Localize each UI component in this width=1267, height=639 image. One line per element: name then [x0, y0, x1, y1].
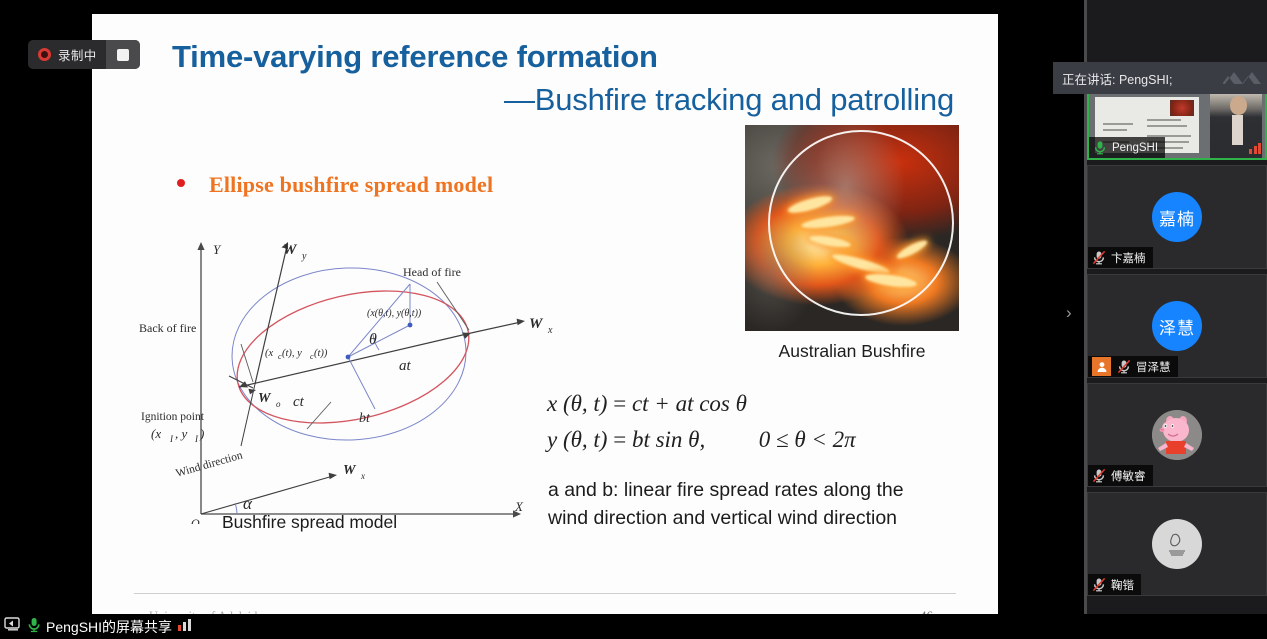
taskbar: PengSHI的屏幕共享 — [0, 614, 1267, 639]
bushfire-spread-diagram: Y X O — [117, 224, 557, 524]
label-ct: ct — [293, 394, 305, 410]
recording-label: 录制中 — [58, 45, 97, 64]
avatar — [1152, 410, 1202, 460]
recording-status: 录制中 — [28, 40, 106, 69]
mic-muted-icon — [1092, 577, 1106, 592]
photo-circle-overlay — [768, 130, 954, 316]
major-axis — [239, 333, 471, 387]
participant-tile-jukai[interactable]: 鞠锴 — [1087, 492, 1267, 596]
svg-text:o: o — [276, 399, 281, 409]
label-ignition-coords: (x — [151, 426, 161, 441]
mic-muted-icon — [1092, 250, 1106, 265]
page-title: Time-varying reference formation —Bushfi… — [172, 36, 962, 122]
presenter-shirt — [1232, 115, 1243, 145]
peppa-pig-avatar-icon — [1152, 410, 1202, 460]
label-bt: bt — [359, 411, 371, 426]
zoom-logo-icon — [1221, 62, 1267, 94]
screen-share-icon[interactable] — [4, 616, 22, 637]
label-theta: θ — [369, 331, 377, 348]
participant-name: 卞嘉楠 — [1111, 250, 1146, 266]
eq2-range: 0 ≤ θ < 2π — [759, 427, 856, 452]
label-ignition-point: Ignition point — [141, 411, 205, 423]
mic-on-icon[interactable] — [27, 616, 41, 638]
bullet-item: Ellipse bushfire spread model — [177, 172, 493, 198]
participant-tile-pengshi[interactable]: PengSHI — [1087, 90, 1267, 160]
eq1-rhs: ct + at cos θ — [632, 391, 747, 416]
sketch-avatar-icon — [1164, 531, 1190, 557]
svg-text:I: I — [194, 434, 199, 444]
eq2-lhs: y (θ, t) — [547, 427, 607, 452]
shared-slide: Time-varying reference formation —Bushfi… — [92, 14, 998, 621]
eq2-rhs: bt sin θ, — [632, 427, 705, 452]
participant-label: 卞嘉楠 — [1088, 247, 1153, 268]
active-speaker-label: 正在讲话: PengSHI; — [1053, 69, 1221, 88]
spread-equations: x (θ, t) = ct + at cos θ y (θ, t) = bt s… — [547, 386, 856, 457]
svg-text:): ) — [199, 426, 204, 441]
axis-label-x: X — [514, 499, 524, 514]
record-dot-icon — [38, 48, 51, 61]
photo-caption: Australian Bushfire — [745, 341, 959, 362]
bullet-dot-icon — [177, 179, 185, 187]
participant-tile-maozehui[interactable]: 泽慧 冒泽慧 — [1087, 274, 1267, 378]
label-wo: W — [258, 391, 272, 406]
svg-text:x: x — [547, 325, 553, 336]
participant-label: 鞠锴 — [1088, 574, 1141, 595]
participant-label: 冒泽慧 — [1088, 356, 1178, 377]
label-wind-direction: Wind direction — [175, 449, 245, 480]
avatar — [1152, 519, 1202, 569]
slide-title-line2: —Bushfire tracking and patrolling — [172, 79, 962, 122]
wy-axis — [255, 246, 287, 384]
label-wy: W — [283, 242, 298, 258]
label-point-coords: (x(θ,t), y(θ,t)) — [367, 308, 422, 319]
ignition-leader — [307, 402, 331, 429]
svg-text:y: y — [301, 251, 307, 262]
participant-name: 鞠锴 — [1111, 577, 1134, 593]
eq1-lhs: x (θ, t) — [547, 391, 607, 416]
bushfire-photo — [745, 125, 959, 331]
zoom-screen-share-window: Time-varying reference formation —Bushfi… — [0, 0, 1267, 639]
bushfire-photo-block: Australian Bushfire — [745, 125, 959, 362]
svg-text:(t)): (t)) — [314, 348, 328, 359]
label-wx-wind: W — [343, 463, 357, 478]
recording-indicator[interactable]: 录制中 — [28, 40, 140, 69]
label-center-coords: (x — [265, 348, 273, 359]
fire-ellipse — [224, 270, 482, 444]
parameter-description: a and b: linear fire spread rates along … — [548, 477, 928, 532]
presenter-head — [1230, 96, 1247, 115]
eq1-equals: = — [613, 391, 626, 416]
svg-text:x: x — [360, 471, 365, 481]
participant-tile-fuminrui[interactable]: 傅敏睿 — [1087, 383, 1267, 487]
left-black-margin — [0, 0, 92, 625]
diagram-caption: Bushfire spread model — [222, 512, 397, 533]
equation-line-1: x (θ, t) = ct + at cos θ — [547, 386, 856, 422]
label-back-of-fire: Back of fire — [139, 321, 196, 335]
svg-text:I: I — [169, 434, 174, 444]
avatar: 嘉楠 — [1152, 192, 1202, 242]
center-point — [346, 355, 351, 360]
bullet-label: Ellipse bushfire spread model — [209, 172, 493, 198]
axis-label-origin: O — [191, 516, 200, 524]
mic-muted-icon — [1092, 468, 1106, 483]
svg-text:, y: , y — [175, 426, 188, 441]
host-person-icon — [1092, 357, 1111, 376]
participant-name: 冒泽慧 — [1136, 359, 1171, 375]
radius-lines — [348, 284, 410, 409]
axis-label-y: Y — [213, 242, 222, 257]
label-head-of-fire: Head of fire — [403, 265, 461, 279]
diagram-axes — [197, 242, 521, 518]
participant-strip[interactable]: PengSHI 嘉楠 卞嘉楠 泽慧 — [1087, 0, 1267, 639]
label-wx: W — [529, 316, 544, 332]
taskbar-label: PengSHI的屏幕共享 — [46, 617, 172, 637]
participant-name: 傅敏睿 — [1111, 468, 1146, 484]
head-of-fire-leader — [437, 282, 469, 330]
participant-label: PengSHI — [1089, 137, 1165, 158]
signal-bars-icon — [177, 617, 195, 636]
slide-thumbnail-fire — [1170, 100, 1194, 116]
chevron-right-icon[interactable]: › — [1066, 303, 1072, 323]
participant-label: 傅敏睿 — [1088, 465, 1153, 486]
slide-title-line1: Time-varying reference formation — [172, 39, 658, 74]
active-speaker-banner: 正在讲话: PengSHI; — [1053, 62, 1267, 94]
participant-tile-bianjianan[interactable]: 嘉楠 卞嘉楠 — [1087, 165, 1267, 269]
svg-text:(t), y: (t), y — [282, 348, 302, 359]
boundary-point — [408, 323, 413, 328]
wind-direction-line — [201, 476, 333, 514]
mic-muted-icon — [1117, 359, 1131, 374]
label-alpha: α — [243, 494, 253, 513]
stop-square-icon — [117, 49, 129, 61]
avatar: 泽慧 — [1152, 301, 1202, 351]
signal-bars-icon — [1249, 142, 1261, 154]
label-at: at — [399, 358, 412, 374]
equation-line-2: y (θ, t) = bt sin θ, 0 ≤ θ < 2π — [547, 422, 856, 458]
footer-divider — [134, 593, 956, 594]
eq2-equals: = — [613, 427, 626, 452]
mic-on-icon — [1093, 140, 1107, 155]
stop-recording-button[interactable] — [106, 40, 140, 69]
participant-name: PengSHI — [1112, 142, 1158, 154]
